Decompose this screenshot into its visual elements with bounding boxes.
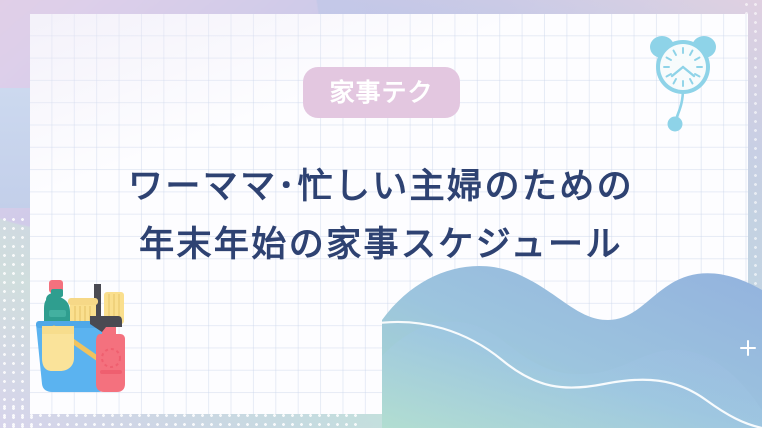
- eyecatch-canvas: 家事テク ワーママ･忙しい主婦のための 年末年始の家事スケジュール: [0, 0, 762, 428]
- spray-bottle-stripe: [100, 370, 122, 374]
- cleaning-supplies-illustration: [18, 272, 138, 398]
- cloth-fold: [42, 326, 74, 334]
- supplies-svg: [18, 272, 138, 398]
- detergent-bottle-label: [49, 310, 66, 317]
- clock-pendulum-bob: [668, 117, 683, 132]
- yellow-jar-lid: [68, 298, 98, 305]
- page-title-line-1: ワーママ･忙しい主婦のための: [0, 158, 762, 216]
- plus-mark: [740, 340, 756, 356]
- detergent-bottle-neck: [51, 289, 63, 297]
- alarm-clock-illustration: [640, 26, 726, 136]
- clock-svg: [640, 26, 726, 136]
- page-title-line-2: 年末年始の家事スケジュール: [0, 216, 762, 274]
- detergent-bottle: [44, 293, 70, 324]
- spray-bottle-body: [96, 334, 125, 392]
- category-badge-label: 家事テク: [329, 80, 433, 105]
- category-badge[interactable]: 家事テク: [303, 67, 460, 118]
- page-title: ワーママ･忙しい主婦のための 年末年始の家事スケジュール: [0, 158, 762, 274]
